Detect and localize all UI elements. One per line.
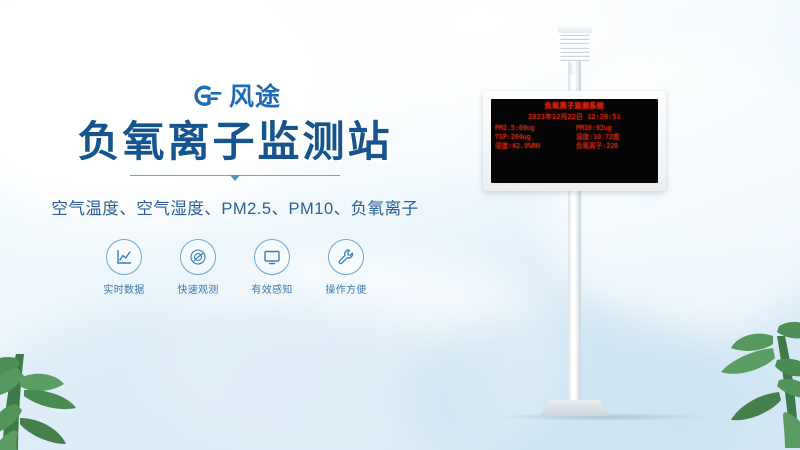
poster-canvas: 风途 负氧离子监测站 空气温度、空气湿度、PM2.5、PM10、负氧离子 实时数… [0,0,800,450]
led-readings-left: PM2.5:69ug TSP:204ug 湿度:42.9%RH [495,124,573,151]
led-reading-negative-oxygen-ion: 负氧离子:226 [576,142,654,151]
led-reading-pm25: PM2.5:69ug [495,124,573,133]
monitor-icon [254,239,290,275]
plant-decoration-right [673,296,800,450]
led-title: 负氧离子监测系统 [491,101,658,111]
led-readings-right: PM10:92ug 温度:10.72度 负氧离子:226 [573,124,654,151]
led-reading-humidity: 湿度:42.9%RH [495,142,573,151]
led-reading-tsp: TSP:204ug [495,133,573,142]
plant-decoration-left [0,318,140,450]
hero-text-block: 风途 负氧离子监测站 空气温度、空气湿度、PM2.5、PM10、负氧离子 实时数… [0,82,470,296]
brand-name: 风途 [229,85,281,110]
led-reading-pm10: PM10:92ug [576,124,654,133]
background-wash [540,40,800,340]
feature-item-realtime-data[interactable]: 实时数据 [99,239,149,296]
led-display-panel: 负氧离子监测系统 2021年12月22日 12:20:51 PM2.5:69ug… [483,91,666,191]
feature-label: 操作方便 [321,281,371,296]
feature-label: 实时数据 [99,281,149,296]
hero-subtitle: 空气温度、空气湿度、PM2.5、PM10、负氧离子 [0,195,470,219]
fengtu-logo-icon [189,84,223,110]
title-divider [130,171,340,181]
led-reading-temperature: 温度:10.72度 [576,133,654,142]
led-datetime: 2021年12月22日 12:20:51 [491,112,658,122]
ground-shadow [498,412,798,422]
brand-logo: 风途 [0,82,470,112]
background-wash [400,310,740,450]
feature-label: 快速观测 [173,281,223,296]
background-wash [0,300,500,450]
page-title: 负氧离子监测站 [0,118,470,165]
feature-item-fast-observation[interactable]: 快速观测 [173,239,223,296]
radar-scan-icon [180,239,216,275]
support-pole-icon [568,60,581,410]
led-screen: 负氧离子监测系统 2021年12月22日 12:20:51 PM2.5:69ug… [491,99,658,183]
feature-label: 有效感知 [247,281,297,296]
chart-line-icon [106,239,142,275]
pole-base [540,400,610,416]
feature-item-easy-operation[interactable]: 操作方便 [321,239,371,296]
feature-item-effective-sensing[interactable]: 有效感知 [247,239,297,296]
radiation-shield-sensor-icon [556,24,594,72]
feature-list: 实时数据 快速观测 [0,239,470,296]
led-readings: PM2.5:69ug TSP:204ug 湿度:42.9%RH PM10:92u… [491,124,658,151]
wrench-icon [328,239,364,275]
